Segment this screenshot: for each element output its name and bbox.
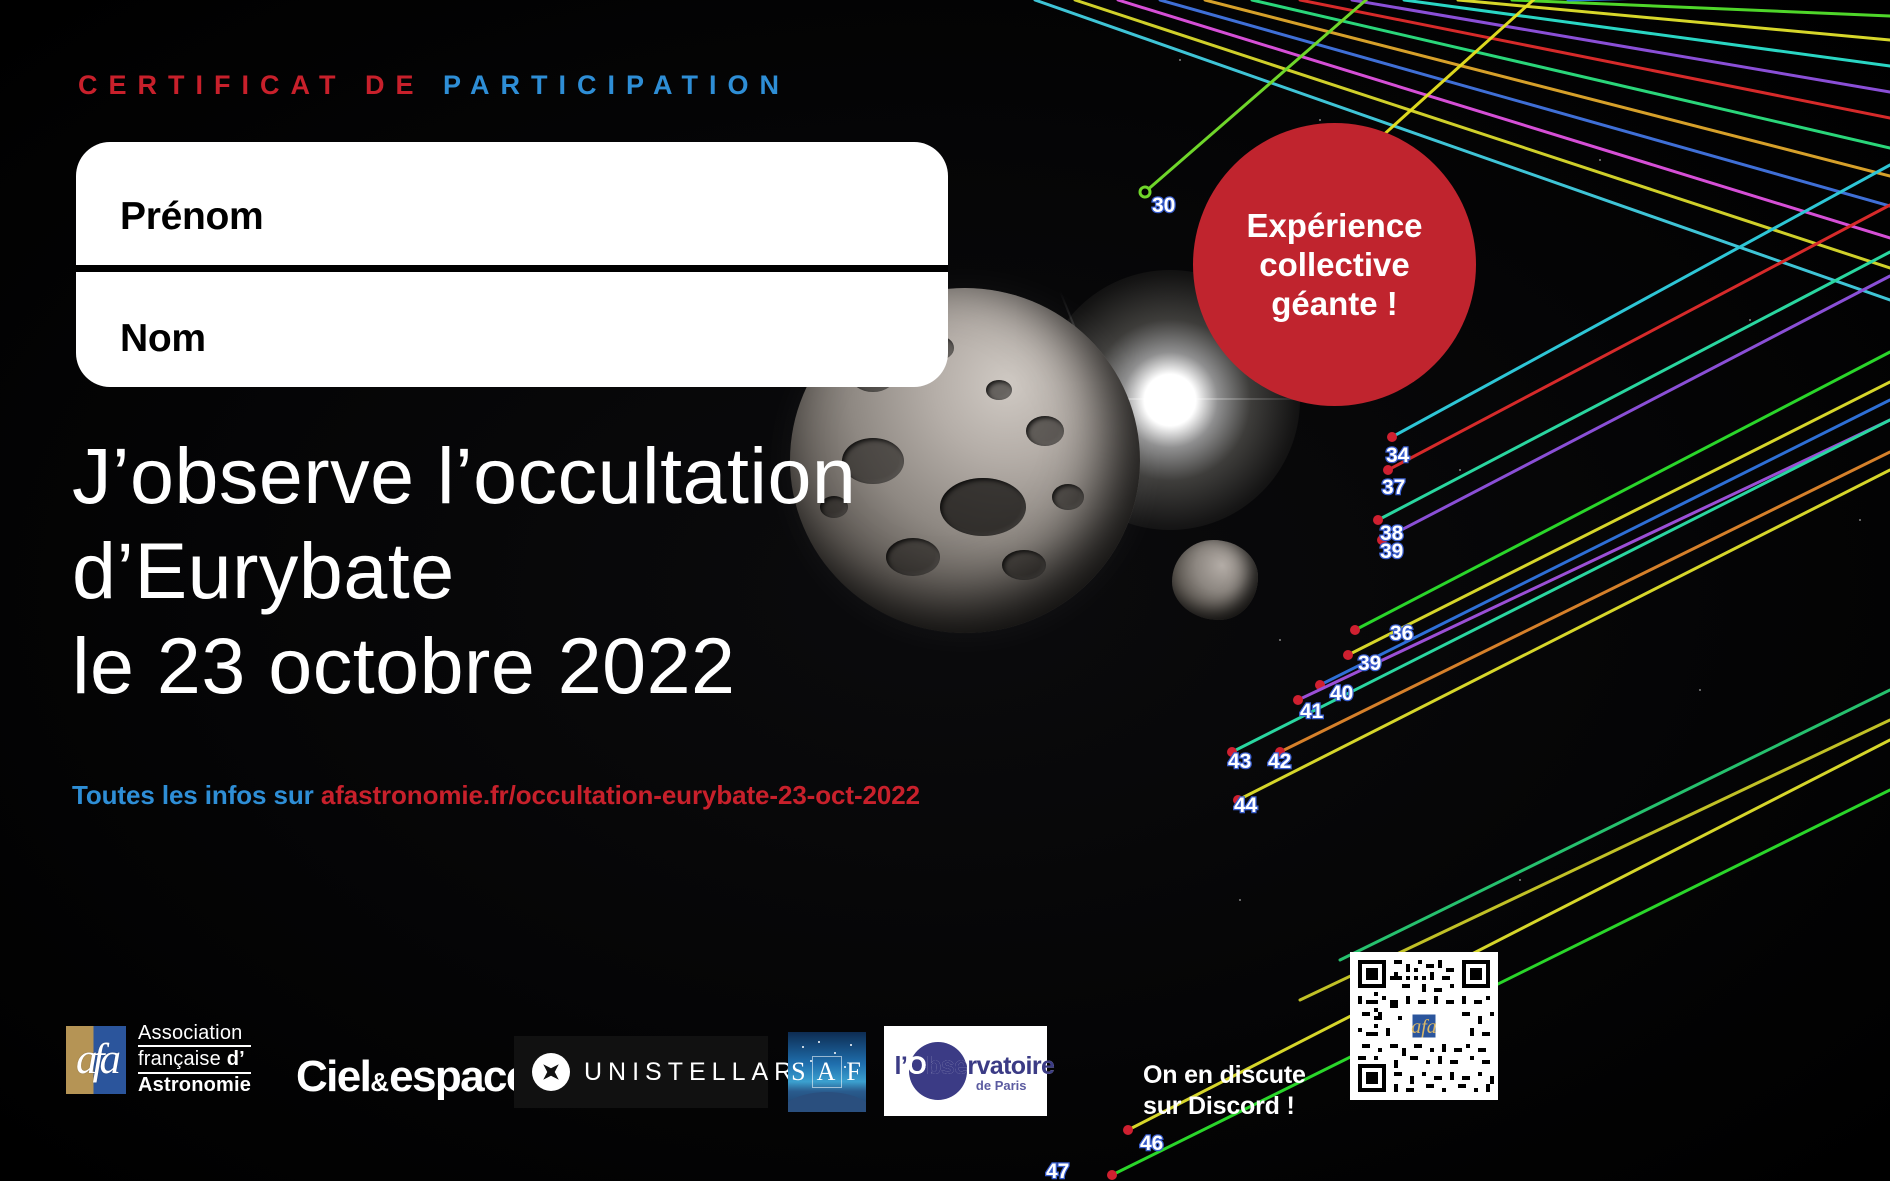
logo-ciel-et-espace: Ciel&espace (296, 1052, 529, 1102)
participant-name-card: Prénom Nom (76, 142, 948, 387)
track-label: 42 (1268, 750, 1291, 773)
certificate-header: CERTIFICAT DE PARTICIPATION (78, 70, 790, 101)
observatoire-initial: O (907, 1052, 926, 1080)
badge-line-3: géante ! (1246, 284, 1422, 323)
afa-monogram-text: afa (66, 1026, 126, 1094)
track-label: 41 (1300, 700, 1324, 723)
logo-observatoire-de-paris: l’Observatoire de Paris (884, 1026, 1047, 1116)
observatoire-subtitle: de Paris (976, 1078, 1027, 1093)
title-line-2: d’Eurybate (72, 523, 1072, 618)
header-part-blue: PARTICIPATION (443, 70, 790, 100)
badge-line-1: Expérience (1246, 206, 1422, 245)
title-line-1: J’observe l’occultation (72, 428, 1072, 523)
firstname-label: Prénom (120, 195, 263, 239)
asteroid-satellite (1172, 540, 1258, 620)
info-prefix: Toutes les infos sur (72, 780, 321, 810)
track-label: 44 (1234, 794, 1258, 817)
lastname-field[interactable]: Nom (76, 265, 948, 388)
track-label: 30 (1152, 194, 1175, 217)
track-label: 39 (1380, 540, 1403, 563)
observatoire-prefix: l’ (895, 1052, 908, 1080)
track-label: 43 (1228, 750, 1251, 773)
logo-unistellar: UNISTELLAR (514, 1036, 768, 1108)
afa-line-2: française d’ (138, 1045, 251, 1074)
header-part-red: CERTIFICAT DE (78, 70, 443, 100)
track-label: 34 (1386, 444, 1410, 467)
afa-monogram-icon: afa (66, 1026, 126, 1094)
track-label: 47 (1046, 1160, 1069, 1181)
unistellar-star-icon (532, 1053, 570, 1091)
afa-line-1: Association (138, 1022, 251, 1045)
ciel-part-2: espace (389, 1052, 529, 1101)
lastname-label: Nom (120, 317, 206, 361)
svg-text:afa: afa (1411, 1016, 1437, 1038)
discord-line-1: On en discute (1143, 1060, 1306, 1091)
track-label: 46 (1140, 1132, 1163, 1155)
afa-line-2-light: française (138, 1048, 227, 1070)
track-label: 40 (1330, 682, 1353, 705)
observatoire-name: l’Observatoire (895, 1052, 1045, 1081)
badge-line-2: collective (1246, 245, 1422, 284)
unistellar-name: UNISTELLAR (584, 1058, 798, 1087)
title-line-3: le 23 octobre 2022 (72, 618, 1072, 713)
qr-code[interactable]: afa (1350, 952, 1498, 1100)
track-label: 36 (1390, 622, 1413, 645)
firstname-field[interactable]: Prénom (76, 142, 948, 265)
saf-letter-a: A (812, 1056, 843, 1088)
info-url[interactable]: afastronomie.fr/occultation-eurybate-23-… (321, 780, 920, 810)
ciel-part-1: Ciel (296, 1052, 370, 1101)
info-line: Toutes les infos sur afastronomie.fr/occ… (72, 780, 920, 811)
ciel-ampersand: & (370, 1067, 389, 1097)
saf-letter-f: F (846, 1057, 862, 1087)
discord-line-2: sur Discord ! (1143, 1091, 1306, 1122)
track-label: 39 (1358, 652, 1381, 675)
discord-callout: On en discute sur Discord ! (1143, 1060, 1306, 1122)
observatoire-rest: bservatoire (926, 1052, 1054, 1080)
status-badge: Expérience collective géante ! (1193, 123, 1476, 406)
afa-line-3: Astronomie (138, 1074, 251, 1097)
logo-saf: S A F (788, 1032, 866, 1112)
track-label: 37 (1382, 476, 1405, 499)
logo-afa: afa Association française d’ Astronomie (66, 1022, 251, 1097)
page-title: J’observe l’occultation d’Eurybate le 23… (72, 428, 1072, 713)
afa-line-2-bold: d’ (227, 1048, 245, 1070)
saf-letter-s: S (791, 1057, 807, 1087)
